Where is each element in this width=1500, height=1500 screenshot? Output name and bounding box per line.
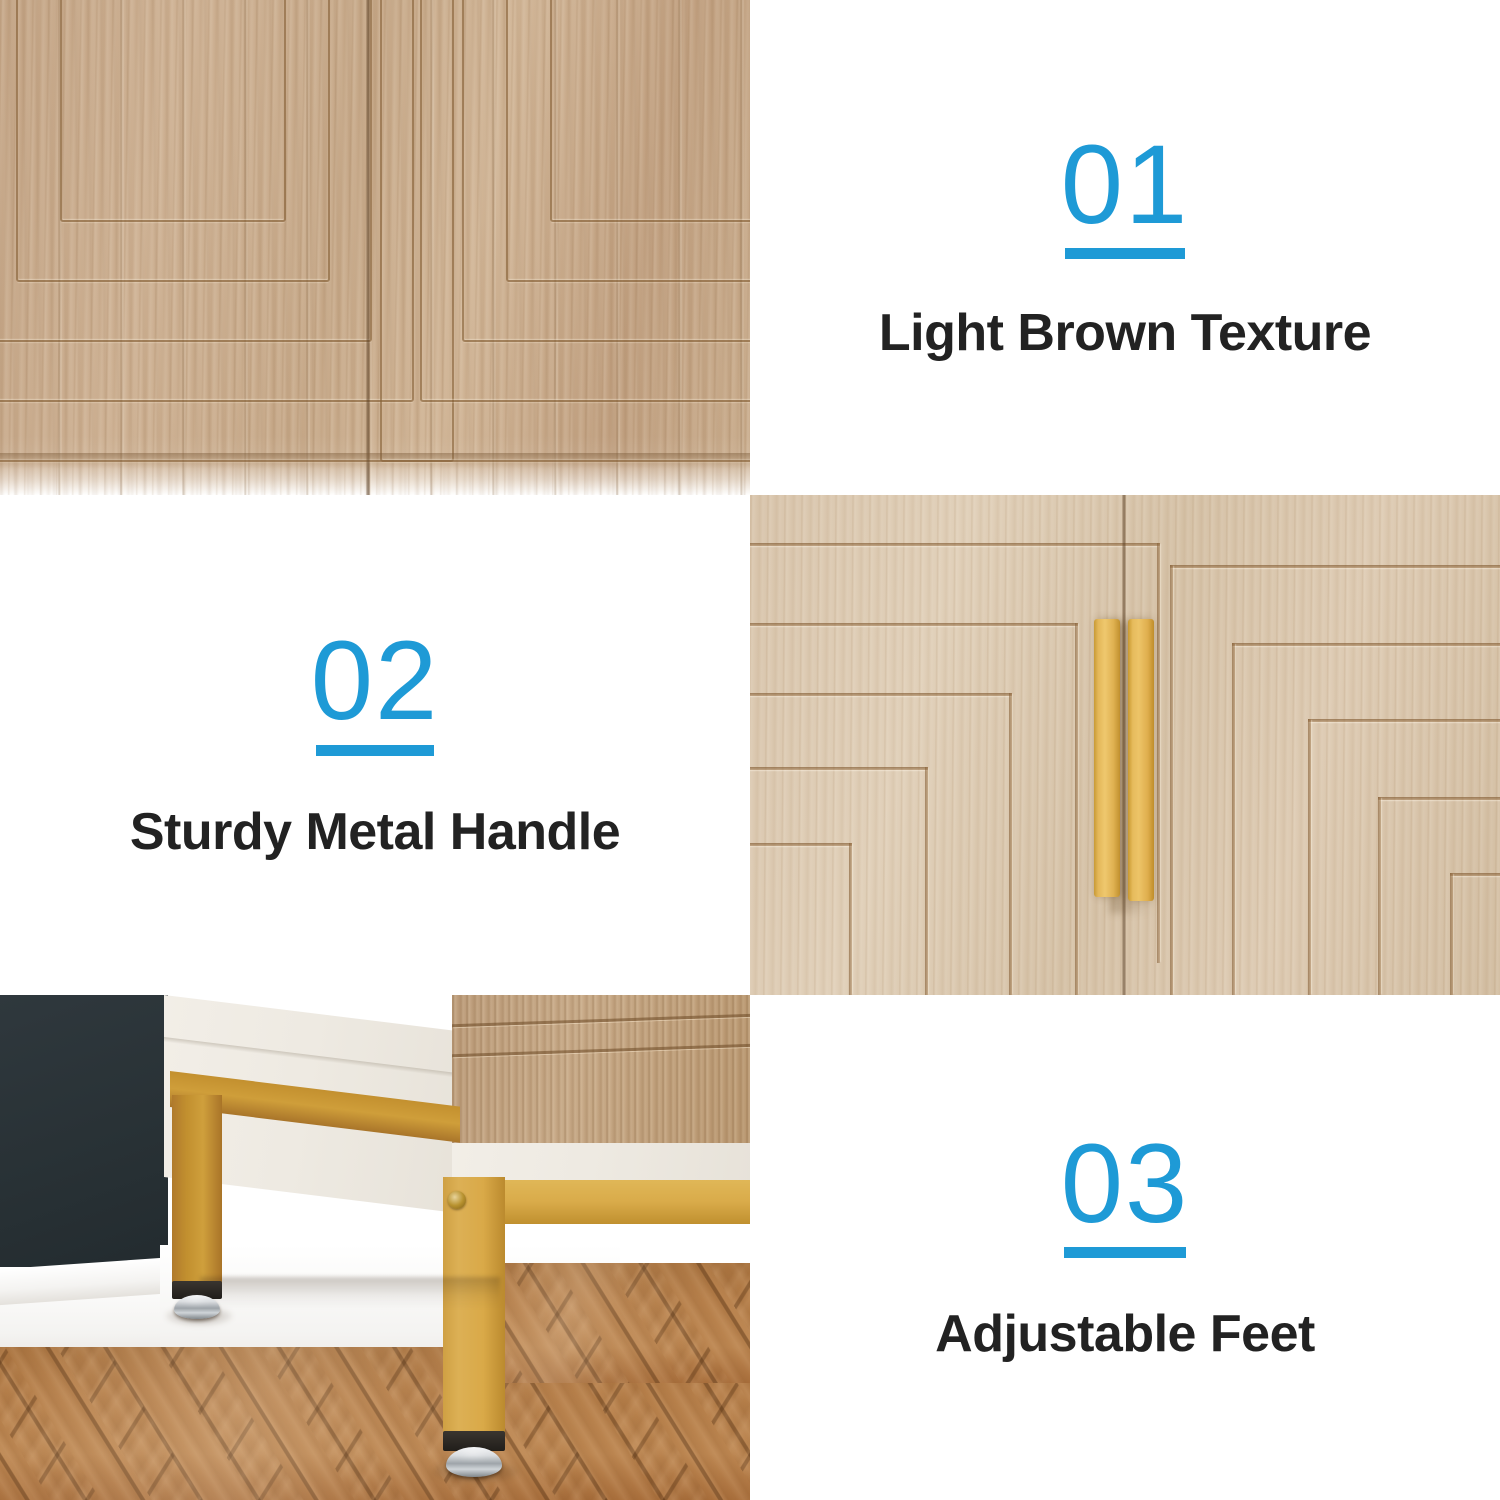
feature-number-03: 03 — [1061, 1131, 1190, 1237]
feature-photo-adjustable-feet — [0, 995, 750, 1500]
feature-number-01: 01 — [1061, 132, 1190, 238]
door-groove-step — [925, 767, 928, 995]
feature-text-panel-01: 01 Light Brown Texture — [750, 0, 1500, 495]
floor-light-sheen — [480, 1263, 750, 1383]
herringbone-floor-upper — [480, 1263, 750, 1383]
door-groove-step — [1378, 797, 1381, 995]
door-groove-step — [1232, 643, 1500, 646]
door-groove-step — [750, 543, 1160, 546]
door-groove-step — [1170, 565, 1500, 568]
feature-number-block-02: 02 — [311, 628, 440, 755]
feature-photo-light-brown-texture — [0, 0, 750, 495]
door-groove-step — [750, 767, 928, 770]
feature-number-block-01: 01 — [1061, 132, 1190, 259]
cabinet-bottom-edge — [0, 453, 750, 469]
door-groove-step — [1075, 623, 1078, 995]
cabinet-leg-rear — [172, 1095, 222, 1285]
foot-highlight-front — [454, 1450, 492, 1462]
feature-title-03: Adjustable Feet — [935, 1304, 1315, 1364]
cabinet-under-shadow — [200, 1277, 500, 1309]
feature-number-block-03: 03 — [1061, 1131, 1190, 1258]
door-groove-step — [750, 623, 1078, 626]
cabinet-wood-door — [452, 995, 750, 1143]
door-groove-step — [1009, 693, 1012, 995]
door-groove-step — [1232, 643, 1235, 995]
product-feature-infographic: 01 Light Brown Texture 02 Sturdy Metal H… — [0, 0, 1500, 1500]
feature-photo-sturdy-metal-handle — [750, 495, 1500, 995]
door-groove-step — [1170, 565, 1173, 995]
background-wall — [0, 995, 168, 1295]
feature-text-panel-02: 02 Sturdy Metal Handle — [0, 495, 750, 995]
door-groove-step — [1308, 719, 1311, 995]
door-groove-step — [849, 843, 852, 995]
cabinet-door-seam — [366, 0, 370, 495]
door-groove-step — [1450, 873, 1453, 995]
leg-screw — [448, 1191, 466, 1209]
door-groove-step — [750, 693, 1012, 696]
feature-number-02: 02 — [311, 628, 440, 734]
door-groove-step — [750, 843, 852, 846]
feature-number-underline-02 — [316, 745, 434, 756]
feature-text-panel-03: 03 Adjustable Feet — [750, 995, 1500, 1500]
door-groove-frame — [550, 0, 750, 222]
door-groove-step — [1157, 543, 1160, 963]
metal-handle-left — [1094, 619, 1120, 897]
metal-handle-right — [1128, 619, 1154, 901]
door-groove-step — [1308, 719, 1500, 722]
feature-title-01: Light Brown Texture — [879, 303, 1371, 363]
feature-number-underline-01 — [1065, 248, 1185, 259]
door-groove-step — [1450, 873, 1500, 876]
feature-title-02: Sturdy Metal Handle — [130, 802, 620, 862]
foot-highlight-rear — [180, 1297, 210, 1307]
door-groove-frame — [60, 0, 286, 222]
feature-number-underline-03 — [1064, 1247, 1186, 1258]
door-groove-step — [1378, 797, 1500, 800]
